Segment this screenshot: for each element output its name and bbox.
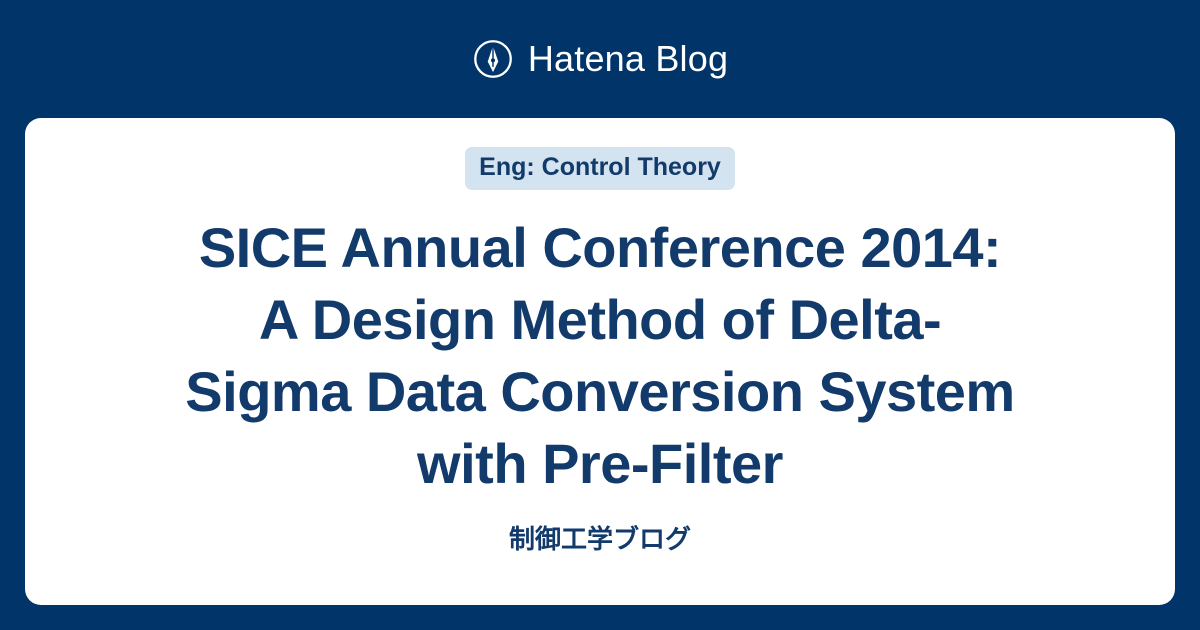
title-line: Sigma Data Conversion System: [85, 356, 1115, 428]
entry-card: Eng: Control Theory SICE Annual Conferen…: [25, 118, 1175, 605]
category-badge[interactable]: Eng: Control Theory: [465, 147, 735, 190]
title-line: A Design Method of Delta-: [85, 284, 1115, 356]
og-image-canvas: Hatena Blog Eng: Control Theory SICE Ann…: [0, 0, 1200, 630]
brand-name: Hatena Blog: [528, 41, 728, 77]
blog-name: 制御工学ブログ: [85, 524, 1115, 555]
brand-header: Hatena Blog: [0, 0, 1200, 118]
entry-title: SICE Annual Conference 2014: A Design Me…: [85, 212, 1115, 500]
title-line: SICE Annual Conference 2014:: [85, 212, 1115, 284]
title-line: with Pre-Filter: [85, 428, 1115, 500]
hatena-pen-nib-icon: [472, 38, 514, 80]
